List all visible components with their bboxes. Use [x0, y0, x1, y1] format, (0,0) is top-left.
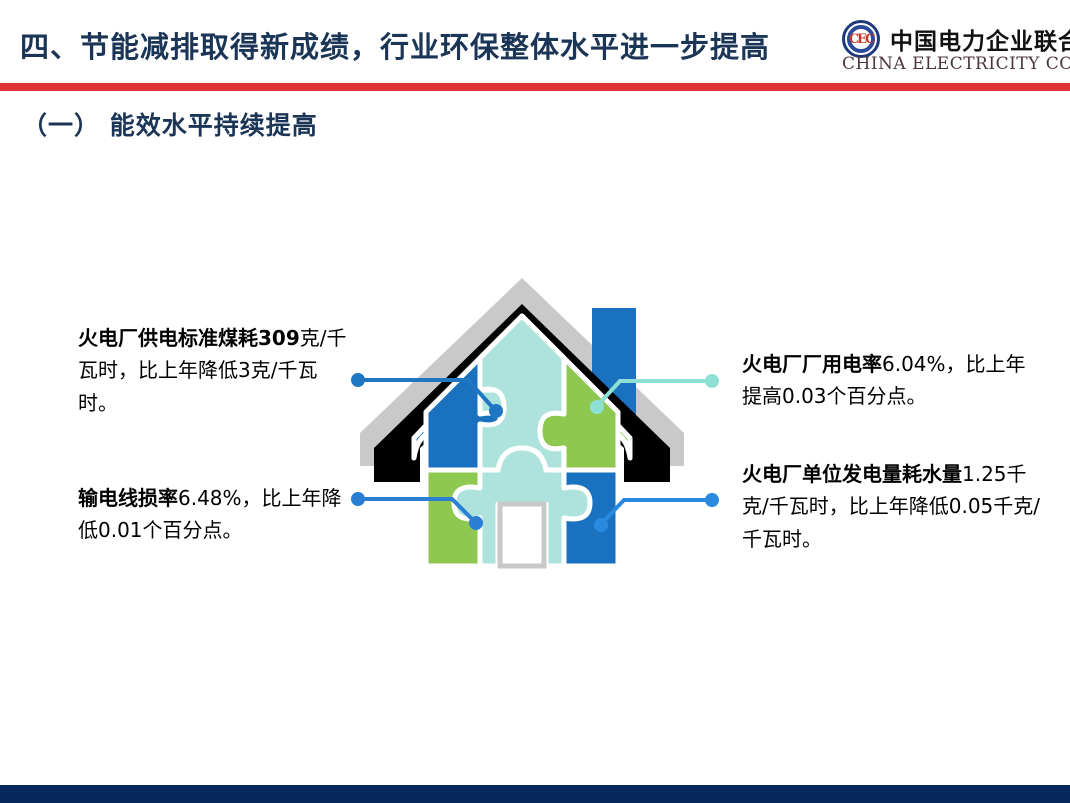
page-title: 四、节能减排取得新成绩，行业环保整体水平进一步提高 [20, 24, 770, 66]
callout-water-consumption: 火电厂单位发电量耗水量1.25千克/千瓦时，比上年降低0.05千克/千瓦时。 [742, 458, 1042, 555]
cec-logo: CEC 中国电力企业联合会 CHINA ELECTRICITY COUNCIL [842, 18, 1062, 78]
footer-bar [0, 785, 1070, 803]
slide-canvas: 四、节能减排取得新成绩，行业环保整体水平进一步提高 CEC 中国电力企业联合会 … [0, 0, 1070, 803]
house-puzzle-diagram [340, 270, 740, 590]
header-red-divider [0, 83, 1070, 91]
callout-aux-lead: 火电厂厂用电率 [742, 352, 882, 376]
callout-line-loss: 输电线损率6.48%，比上年降低0.01个百分点。 [78, 482, 353, 547]
callout-water-lead: 火电厂单位发电量耗水量 [742, 462, 962, 486]
logo-chinese-name: 中国电力企业联合会 [890, 22, 1070, 56]
callout-coal-lead: 火电厂供电标准煤耗309 [78, 326, 300, 350]
house-door [500, 504, 544, 566]
logo-english-name: CHINA ELECTRICITY COUNCIL [842, 54, 1070, 74]
section-subtitle: （一） 能效水平持续提高 [22, 106, 318, 142]
callout-line-lead: 输电线损率 [78, 486, 178, 510]
emblem-monogram: CEC [849, 33, 874, 46]
callout-coal-consumption: 火电厂供电标准煤耗309克/千瓦时，比上年降低3克/千瓦时。 [78, 322, 353, 419]
callout-auxiliary-power: 火电厂厂用电率6.04%，比上年提高0.03个百分点。 [742, 348, 1032, 413]
cec-circular-emblem-icon: CEC [842, 20, 880, 58]
